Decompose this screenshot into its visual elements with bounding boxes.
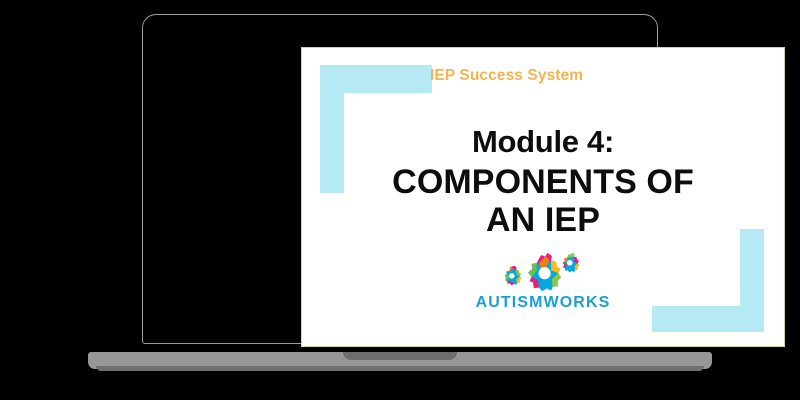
laptop-trackpad-notch xyxy=(343,352,457,360)
course-eyebrow-label: IEP Success System xyxy=(430,67,583,85)
slide-title-line-3: AN IEP xyxy=(302,203,784,237)
autismworks-puzzle-gears-logo-icon xyxy=(495,251,591,293)
presentation-slide: IEP Success System Module 4: COMPONENTS … xyxy=(301,47,785,347)
slide-title: Module 4: COMPONENTS OF AN IEP xyxy=(302,126,784,237)
slide-mockup-scene: IEP Success System Module 4: COMPONENTS … xyxy=(0,0,800,400)
slide-title-line-1: Module 4: xyxy=(302,126,784,157)
brand-logo-lockup: AUTISMWORKS xyxy=(302,251,784,312)
laptop-base-front-lip xyxy=(96,366,704,371)
laptop-lid: IEP Success System Module 4: COMPONENTS … xyxy=(142,14,658,344)
brand-wordmark: AUTISMWORKS xyxy=(476,294,611,312)
slide-title-line-2: COMPONENTS OF xyxy=(302,165,784,199)
